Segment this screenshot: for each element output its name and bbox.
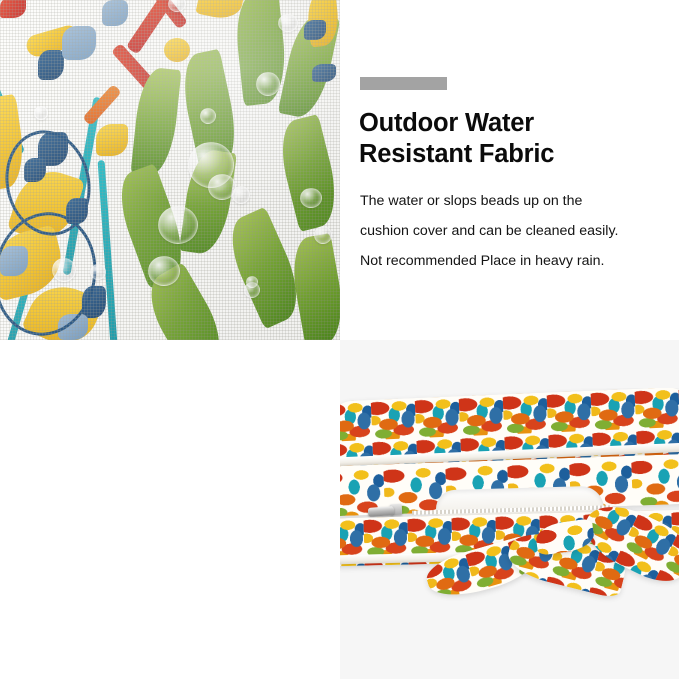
water-droplet (232, 186, 250, 204)
fabric-petal (195, 0, 244, 22)
cushion-image-canvas (340, 388, 679, 620)
fabric-red-blob (0, 0, 26, 18)
zipper-pull (368, 506, 395, 517)
fabric-navy-blob (38, 50, 64, 80)
water-droplet (246, 276, 258, 288)
water-droplet (168, 0, 186, 12)
water-droplet (314, 226, 332, 244)
fabric-steel-blob (102, 0, 128, 26)
water-droplet (200, 108, 216, 124)
fabric-closeup-photo (0, 0, 340, 340)
fabric-steel-blob (62, 26, 96, 60)
fabric-petal (164, 38, 190, 62)
fabric-leaf (130, 66, 181, 178)
cushion-closeup-photo (340, 340, 679, 679)
fabric-leaf (287, 233, 340, 340)
water-droplet (34, 106, 48, 120)
fabric-navy-blob (304, 20, 326, 40)
water-droplet (148, 256, 180, 286)
fabric-accent-bar (360, 77, 447, 90)
fabric-image-canvas (0, 0, 340, 340)
product-feature-collage: Outdoor Water Resistant Fabric The water… (0, 0, 679, 679)
water-droplet (158, 206, 198, 244)
water-droplet (278, 14, 298, 32)
water-droplet (300, 188, 322, 208)
water-droplet (90, 264, 106, 280)
fabric-leaf (273, 114, 340, 232)
fabric-petal (96, 124, 128, 156)
fabric-heading: Outdoor Water Resistant Fabric (359, 108, 669, 170)
fabric-orange-stroke (82, 84, 122, 126)
fabric-text-panel: Outdoor Water Resistant Fabric The water… (340, 0, 679, 340)
straps-text-panel: Straps Design & Auto-locking Zipper The … (0, 340, 340, 679)
water-droplet (52, 258, 76, 282)
water-droplet (256, 72, 280, 96)
fabric-navy-blob (312, 64, 336, 82)
fabric-body-text: The water or slops beads up on the cushi… (360, 186, 672, 276)
